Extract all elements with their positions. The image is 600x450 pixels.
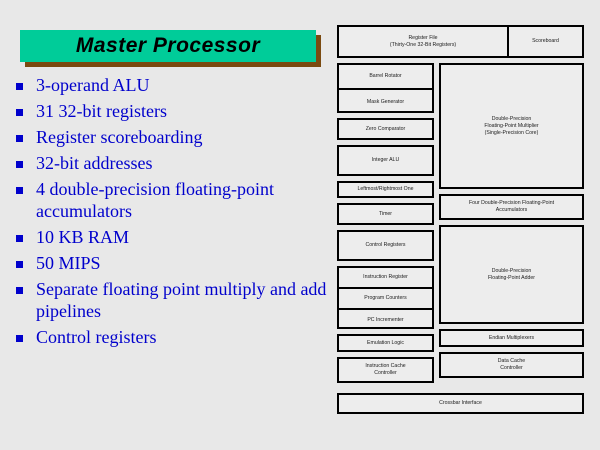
- list-item-label: 32-bit addresses: [36, 152, 152, 174]
- block-instruction-register: Instruction Register: [339, 268, 432, 289]
- square-bullet-icon: [16, 261, 23, 268]
- timer-label: Timer: [377, 211, 394, 218]
- list-item-label: 31 32-bit registers: [36, 100, 167, 122]
- control-registers-label: Control Registers: [363, 242, 407, 249]
- block-control-registers: Control Registers: [337, 230, 434, 261]
- scoreboard-label: Scoreboard: [530, 38, 561, 45]
- list-item: Separate floating point multiply and add…: [16, 278, 332, 322]
- list-item: 31 32-bit registers: [16, 100, 332, 122]
- block-timer: Timer: [337, 203, 434, 225]
- data-cache-controller-line2: Controller: [496, 365, 527, 372]
- block-data-cache-controller: Data Cache Controller: [439, 352, 584, 378]
- feature-bullet-list: 3-operand ALU 31 32-bit registers Regist…: [16, 74, 332, 352]
- instruction-cache-controller-line2: Controller: [363, 370, 407, 377]
- list-item-label: Separate floating point multiply and add…: [36, 278, 332, 322]
- fp-adder-line1: Double-Precision: [486, 268, 537, 275]
- block-endian-multiplexers: Endian Multiplexers: [439, 329, 584, 347]
- list-item: 10 KB RAM: [16, 226, 332, 248]
- block-emulation-logic: Emulation Logic: [337, 334, 434, 352]
- square-bullet-icon: [16, 109, 23, 116]
- list-item-label: 10 KB RAM: [36, 226, 129, 248]
- block-program-counters: Program Counters: [339, 289, 432, 310]
- block-pc-incrementer: PC Incrementer: [339, 310, 432, 331]
- accumulators-line1: Four Double-Precision Floating-Point: [467, 200, 556, 207]
- list-item: Register scoreboarding: [16, 126, 332, 148]
- diagram-columns: Barrel Rotator Mask Generator Zero Compa…: [337, 63, 584, 388]
- slide-canvas: Master Processor 3-operand ALU 31 32-bit…: [0, 0, 600, 450]
- fp-multiplier-line1: Double-Precision: [482, 116, 540, 123]
- title-box: Master Processor: [20, 30, 316, 62]
- integer-alu-label: Integer ALU: [370, 157, 401, 164]
- square-bullet-icon: [16, 161, 23, 168]
- crossbar-interface-label: Crossbar Interface: [437, 400, 484, 407]
- square-bullet-icon: [16, 335, 23, 342]
- zero-comparator-label: Zero Comparator: [364, 126, 408, 133]
- list-item: 3-operand ALU: [16, 74, 332, 96]
- mask-generator-label: Mask Generator: [367, 99, 404, 106]
- block-group-instruction-pc: Instruction Register Program Counters PC…: [337, 266, 434, 329]
- instruction-register-label: Instruction Register: [363, 274, 408, 281]
- block-instruction-cache-controller: Instruction Cache Controller: [337, 357, 434, 383]
- list-item: Control registers: [16, 326, 332, 348]
- endian-multiplexers-label: Endian Multiplexers: [487, 335, 536, 342]
- accumulators-line2: Accumulators: [467, 207, 556, 214]
- block-integer-alu: Integer ALU: [337, 145, 434, 176]
- page-title: Master Processor: [76, 34, 260, 58]
- square-bullet-icon: [16, 235, 23, 242]
- diagram-left-column: Barrel Rotator Mask Generator Zero Compa…: [337, 63, 434, 388]
- fp-multiplier-line2: Floating-Point Multiplier: [482, 123, 540, 130]
- square-bullet-icon: [16, 187, 23, 194]
- data-cache-controller-line1: Data Cache: [496, 358, 527, 365]
- leftmost-rightmost-one-label: Leftmost/Rightmost One: [356, 186, 416, 193]
- list-item-label: 50 MIPS: [36, 252, 101, 274]
- block-mask-generator: Mask Generator: [339, 90, 432, 115]
- list-item-label: 4 double-precision floating-point accumu…: [36, 178, 332, 222]
- register-file-line1: Register File: [388, 35, 458, 42]
- block-group-rotator-mask: Barrel Rotator Mask Generator: [337, 63, 434, 113]
- list-item: 50 MIPS: [16, 252, 332, 274]
- slide-title-banner: Master Processor: [20, 30, 316, 62]
- block-scoreboard: Scoreboard: [509, 25, 584, 58]
- instruction-cache-controller-line1: Instruction Cache: [363, 363, 407, 370]
- pc-incrementer-label: PC Incrementer: [367, 317, 403, 324]
- square-bullet-icon: [16, 83, 23, 90]
- program-counters-label: Program Counters: [364, 295, 406, 302]
- block-fp-multiplier: Double-Precision Floating-Point Multipli…: [439, 63, 584, 189]
- list-item-label: Register scoreboarding: [36, 126, 202, 148]
- diagram-right-column: Double-Precision Floating-Point Multipli…: [439, 63, 584, 388]
- square-bullet-icon: [16, 287, 23, 294]
- block-register-file: Register File (Thirty-One 32-Bit Registe…: [337, 25, 509, 58]
- fp-adder-line2: Floating-Point Adder: [486, 275, 537, 282]
- square-bullet-icon: [16, 135, 23, 142]
- block-crossbar-interface: Crossbar Interface: [337, 393, 584, 414]
- list-item-label: Control registers: [36, 326, 156, 348]
- block-fp-accumulators: Four Double-Precision Floating-Point Acc…: [439, 194, 584, 220]
- fp-multiplier-line3: (Single-Precision Core): [482, 130, 540, 137]
- barrel-rotator-label: Barrel Rotator: [369, 73, 401, 80]
- block-barrel-rotator: Barrel Rotator: [339, 65, 432, 90]
- diagram-top-row: Register File (Thirty-One 32-Bit Registe…: [337, 25, 584, 58]
- block-zero-comparator: Zero Comparator: [337, 118, 434, 140]
- list-item-label: 3-operand ALU: [36, 74, 149, 96]
- list-item: 4 double-precision floating-point accumu…: [16, 178, 332, 222]
- emulation-logic-label: Emulation Logic: [365, 340, 406, 347]
- block-leftmost-rightmost-one: Leftmost/Rightmost One: [337, 181, 434, 198]
- processor-block-diagram: Register File (Thirty-One 32-Bit Registe…: [337, 25, 584, 414]
- list-item: 32-bit addresses: [16, 152, 332, 174]
- block-fp-adder: Double-Precision Floating-Point Adder: [439, 225, 584, 324]
- register-file-line2: (Thirty-One 32-Bit Registers): [388, 42, 458, 49]
